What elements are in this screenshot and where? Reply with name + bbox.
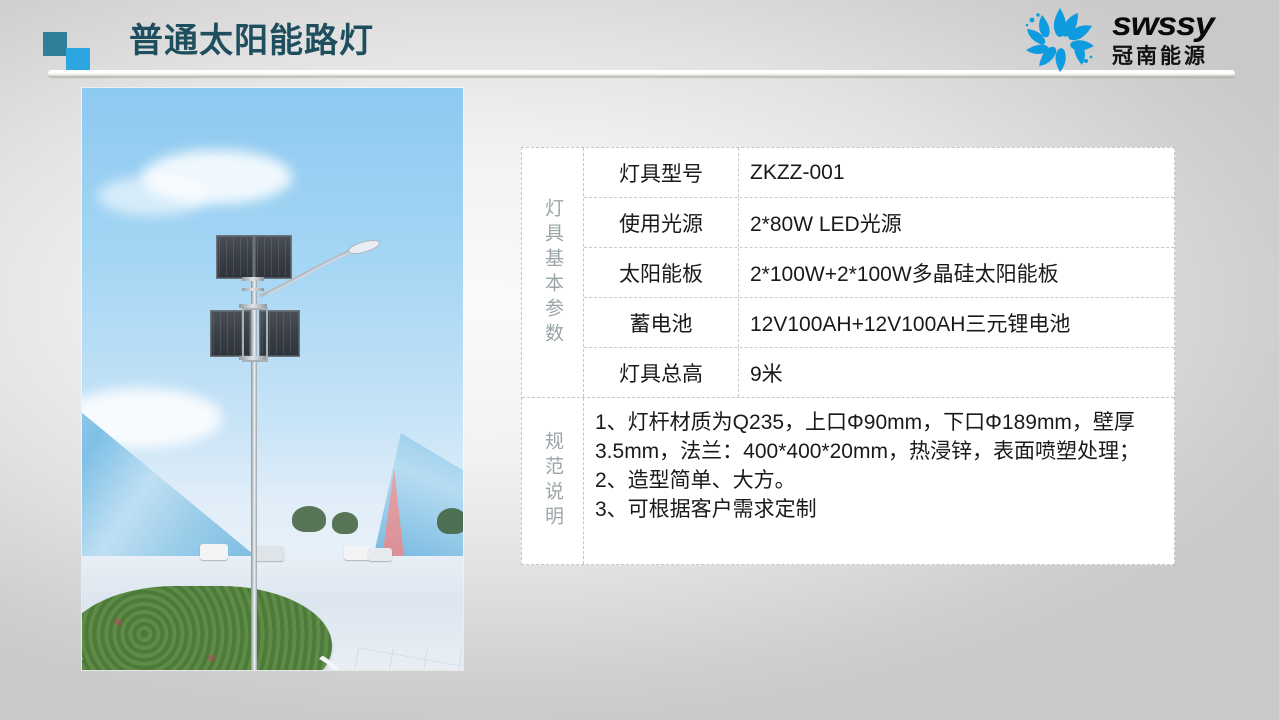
tree-shape [292,506,326,532]
basic-parameters-section: 灯具基本参数 灯具型号 ZKZZ-001 使用光源 2*80W LED光源 太阳… [522,148,1174,398]
company-logo: swssy 冠南能源 [1012,5,1267,77]
spec-value: ZKZZ-001 [739,148,1174,197]
car-shape [254,546,284,561]
table-row: 灯具总高 9米 [584,348,1174,397]
spec-value: 2*80W LED光源 [739,198,1174,247]
spec-label: 太阳能板 [584,248,739,297]
note-line: 3、可根据客户需求定制 [595,495,1162,524]
panel-bracket [242,288,264,291]
tree-shape [437,508,463,534]
presentation-slide: 普通太阳能路灯 [0,0,1279,720]
spec-label: 灯具型号 [584,148,739,197]
car-shape [344,546,370,560]
notes-body: 1、灯杆材质为Q235，上口Φ90mm，下口Φ189mm，壁厚3.5mm，法兰：… [584,398,1174,564]
swssy-water-droplet-flower-icon [1012,6,1108,74]
car-shape [200,544,228,560]
spec-value: 2*100W+2*100W多晶硅太阳能板 [739,248,1174,297]
table-row: 灯具型号 ZKZZ-001 [584,148,1174,198]
note-line: 1、灯杆材质为Q235，上口Φ90mm，下口Φ189mm，壁厚3.5mm，法兰：… [595,408,1162,466]
table-row: 蓄电池 12V100AH+12V100AH三元锂电池 [584,298,1174,348]
decoration-square-light-icon [66,48,90,72]
spec-label: 使用光源 [584,198,739,247]
notes-section: 规范说明 1、灯杆材质为Q235，上口Φ90mm，下口Φ189mm，壁厚3.5m… [522,398,1174,564]
solar-panel [216,235,254,279]
specification-table: 灯具基本参数 灯具型号 ZKZZ-001 使用光源 2*80W LED光源 太阳… [521,147,1175,565]
slide-header: 普通太阳能路灯 [0,0,1279,90]
spec-label: 灯具总高 [584,348,739,397]
spec-value: 9米 [739,348,1174,397]
battery-cage [242,308,268,362]
table-row: 使用光源 2*80W LED光源 [584,198,1174,248]
note-line: 2、造型简单、大方。 [595,466,1162,495]
basic-parameters-header-cell: 灯具基本参数 [522,148,584,397]
logo-text-block: swssy 冠南能源 [1112,7,1262,71]
tree-shape [332,512,358,534]
logo-subtitle: 冠南能源 [1112,43,1262,71]
basic-parameters-rows: 灯具型号 ZKZZ-001 使用光源 2*80W LED光源 太阳能板 2*10… [584,148,1174,397]
page-title: 普通太阳能路灯 [129,17,374,65]
notes-label: 规范说明 [543,431,562,531]
basic-parameters-label: 灯具基本参数 [543,198,562,348]
cloud-shape [98,176,208,216]
table-row: 太阳能板 2*100W+2*100W多晶硅太阳能板 [584,248,1174,298]
solar-street-light-photo [82,88,463,670]
logo-wordmark: swssy [1112,7,1274,41]
decoration-square-dark-icon [43,32,67,56]
spec-label: 蓄电池 [584,298,739,347]
spec-value: 12V100AH+12V100AH三元锂电池 [739,298,1174,347]
panel-bracket [242,277,264,281]
car-shape [368,548,392,561]
solar-panel [254,235,292,279]
notes-header-cell: 规范说明 [522,398,584,564]
